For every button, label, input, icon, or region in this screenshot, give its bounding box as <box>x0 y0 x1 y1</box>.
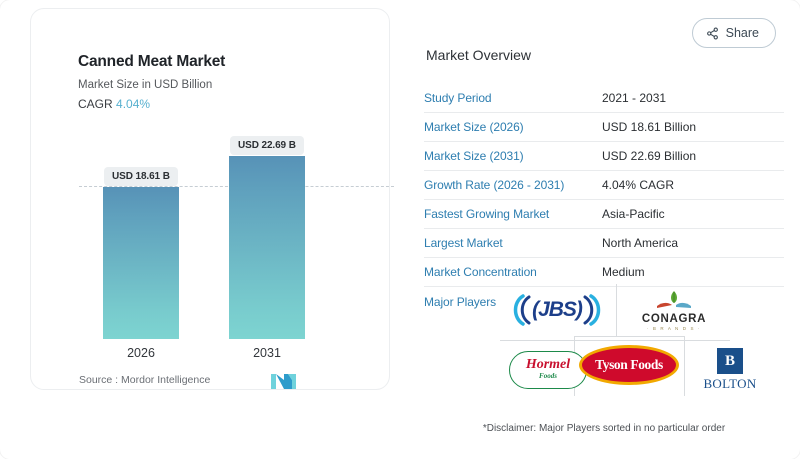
tyson-wordmark: Tyson Foods <box>595 357 663 373</box>
row-value: Medium <box>602 265 645 279</box>
source-text: Source : Mordor Intelligence <box>79 374 210 386</box>
bar-label-2026: USD 18.61 B <box>104 167 178 186</box>
market-overview-table: Study Period 2021 - 2031 Market Size (20… <box>424 84 784 317</box>
row-value: 2021 - 2031 <box>602 91 666 105</box>
conagra-wordmark: CONAGRA <box>642 313 706 325</box>
conagra-sub-wordmark: · B R A N D S · <box>647 326 701 331</box>
share-button-label: Share <box>726 26 759 40</box>
grid-divider-vertical-top <box>616 284 617 336</box>
table-row: Market Size (2026) USD 18.61 Billion <box>424 113 784 142</box>
disclaimer-text: *Disclaimer: Major Players sorted in no … <box>424 423 784 434</box>
bolton-wordmark: BOLTON <box>703 376 756 392</box>
table-row: Market Size (2031) USD 22.69 Billion <box>424 142 784 171</box>
grid-divider-vertical-bottom-right <box>684 336 685 396</box>
major-players-logo-grid: (JBS) CONAGRA · B R A N D S · Hormel Foo… <box>500 284 730 396</box>
table-row: Growth Rate (2026 - 2031) 4.04% CAGR <box>424 171 784 200</box>
logo-conagra: CONAGRA · B R A N D S · <box>624 284 724 336</box>
bolton-mark-icon: B <box>717 348 743 374</box>
table-row: Market Concentration Medium <box>424 258 784 287</box>
jbs-wordmark: (JBS) <box>511 292 603 328</box>
hormel-wordmark: Hormel <box>526 358 570 372</box>
mordor-intelligence-logo <box>271 371 297 389</box>
bar-label-2031: USD 22.69 B <box>230 136 304 155</box>
hormel-sub-wordmark: Foods <box>539 372 557 381</box>
bar-chart-plot: USD 18.61 B USD 22.69 B 2026 2031 <box>31 9 391 391</box>
row-key: Fastest Growing Market <box>424 207 602 221</box>
row-key: Largest Market <box>424 236 602 250</box>
x-axis-label-2031: 2031 <box>229 346 305 360</box>
market-overview-title: Market Overview <box>426 47 531 63</box>
table-row: Largest Market North America <box>424 229 784 258</box>
logo-jbs: (JBS) <box>506 286 608 334</box>
bar-2031[interactable] <box>229 156 305 339</box>
row-value: Asia-Pacific <box>602 207 665 221</box>
row-key: Study Period <box>424 91 602 105</box>
row-key: Market Size (2031) <box>424 149 602 163</box>
row-value: USD 18.61 Billion <box>602 120 696 134</box>
row-value: 4.04% CAGR <box>602 178 674 192</box>
row-key: Market Size (2026) <box>424 120 602 134</box>
chart-card: Canned Meat Market Market Size in USD Bi… <box>30 8 390 390</box>
logo-bolton: B BOLTON <box>686 344 774 396</box>
table-row: Study Period 2021 - 2031 <box>424 84 784 113</box>
table-row: Fastest Growing Market Asia-Pacific <box>424 200 784 229</box>
bar-2026[interactable] <box>103 187 179 339</box>
row-key: Market Concentration <box>424 265 602 279</box>
logo-tyson-foods: Tyson Foods <box>574 336 684 394</box>
share-icon <box>706 27 719 40</box>
share-button[interactable]: Share <box>692 18 776 48</box>
row-value: North America <box>602 236 678 250</box>
row-value: USD 22.69 Billion <box>602 149 696 163</box>
screenshot-root: Canned Meat Market Market Size in USD Bi… <box>0 0 800 459</box>
x-axis-label-2026: 2026 <box>103 346 179 360</box>
row-key: Growth Rate (2026 - 2031) <box>424 178 602 192</box>
conagra-emblem-icon <box>651 290 697 312</box>
